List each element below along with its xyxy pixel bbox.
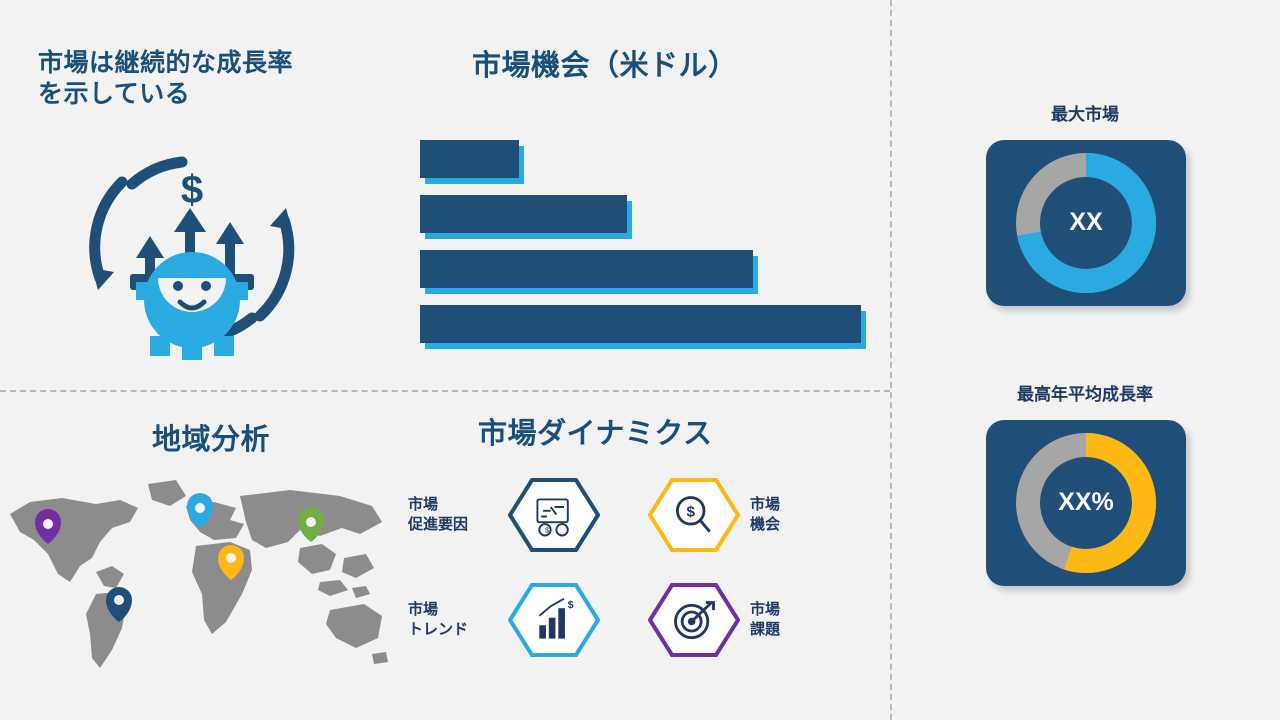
kpi-column: 最大市場 XX 最高年平均成長率 XX% imarc IMPACTFULINSI…	[890, 0, 1280, 720]
opportunity-magnifier-dollar-icon: $	[648, 476, 740, 554]
world-map	[0, 462, 400, 682]
slide-root: 市場は継続的な成長率を示している $	[0, 0, 1280, 720]
svg-text:$: $	[686, 504, 695, 521]
dynamics-title: 市場ダイナミクス	[478, 416, 713, 452]
drivers-network-icon: $	[508, 476, 600, 554]
region-title: 地域分析	[152, 422, 270, 458]
dynamics-item-label: 市場トレンド	[408, 600, 500, 641]
bar-1	[420, 140, 519, 178]
bar-4	[420, 305, 861, 343]
bar-row	[420, 305, 890, 347]
bar-2	[420, 195, 627, 233]
opportunity-title: 市場機会（米ドル）	[472, 48, 738, 84]
dynamics-item-label: 市場機会	[750, 495, 780, 536]
dynamics-item[interactable]: 市場促進要因 $	[408, 476, 600, 554]
growth-title: 市場は継続的な成長率を示している	[38, 48, 378, 111]
trends-bar-chart-icon: $	[508, 581, 600, 659]
challenges-target-dart-icon	[648, 581, 740, 659]
growth-gear-dollar-icon: $	[62, 128, 322, 368]
svg-text:$: $	[568, 600, 574, 611]
donut-title-largest-market: 最大市場	[890, 100, 1280, 125]
dynamics-item[interactable]: 市場トレンド $	[408, 581, 600, 659]
bar-row	[420, 140, 890, 182]
dynamics-item-label: 市場促進要因	[408, 495, 500, 536]
donut-card-highest-cagr: XX%	[986, 420, 1186, 586]
region-panel: 地域分析	[0, 390, 400, 720]
opportunity-panel: 市場機会（米ドル）	[400, 0, 890, 390]
dynamics-grid: 市場促進要因 $ $ 市場機会市場トレンド $	[408, 476, 888, 676]
dynamics-panel: 市場ダイナミクス 市場促進要因 $ $ 市場機会市場トレンド $	[400, 390, 890, 720]
dynamics-item[interactable]: 市場課題	[648, 581, 780, 659]
dynamics-item[interactable]: $ 市場機会	[648, 476, 780, 554]
donut-card-largest-market: XX	[986, 140, 1186, 306]
opportunity-bar-chart	[420, 140, 890, 360]
dollar-symbol-text: $	[181, 168, 203, 212]
dynamics-item-label: 市場課題	[750, 600, 780, 641]
donut-value-largest-market: XX	[986, 208, 1186, 237]
bar-3	[420, 250, 753, 288]
growth-panel: 市場は継続的な成長率を示している $	[0, 0, 400, 390]
pin-east-asia	[298, 507, 324, 542]
bar-row	[420, 195, 890, 237]
bar-row	[420, 250, 890, 292]
donut-value-highest-cagr: XX%	[986, 488, 1186, 517]
donut-title-highest-cagr: 最高年平均成長率	[890, 380, 1280, 405]
